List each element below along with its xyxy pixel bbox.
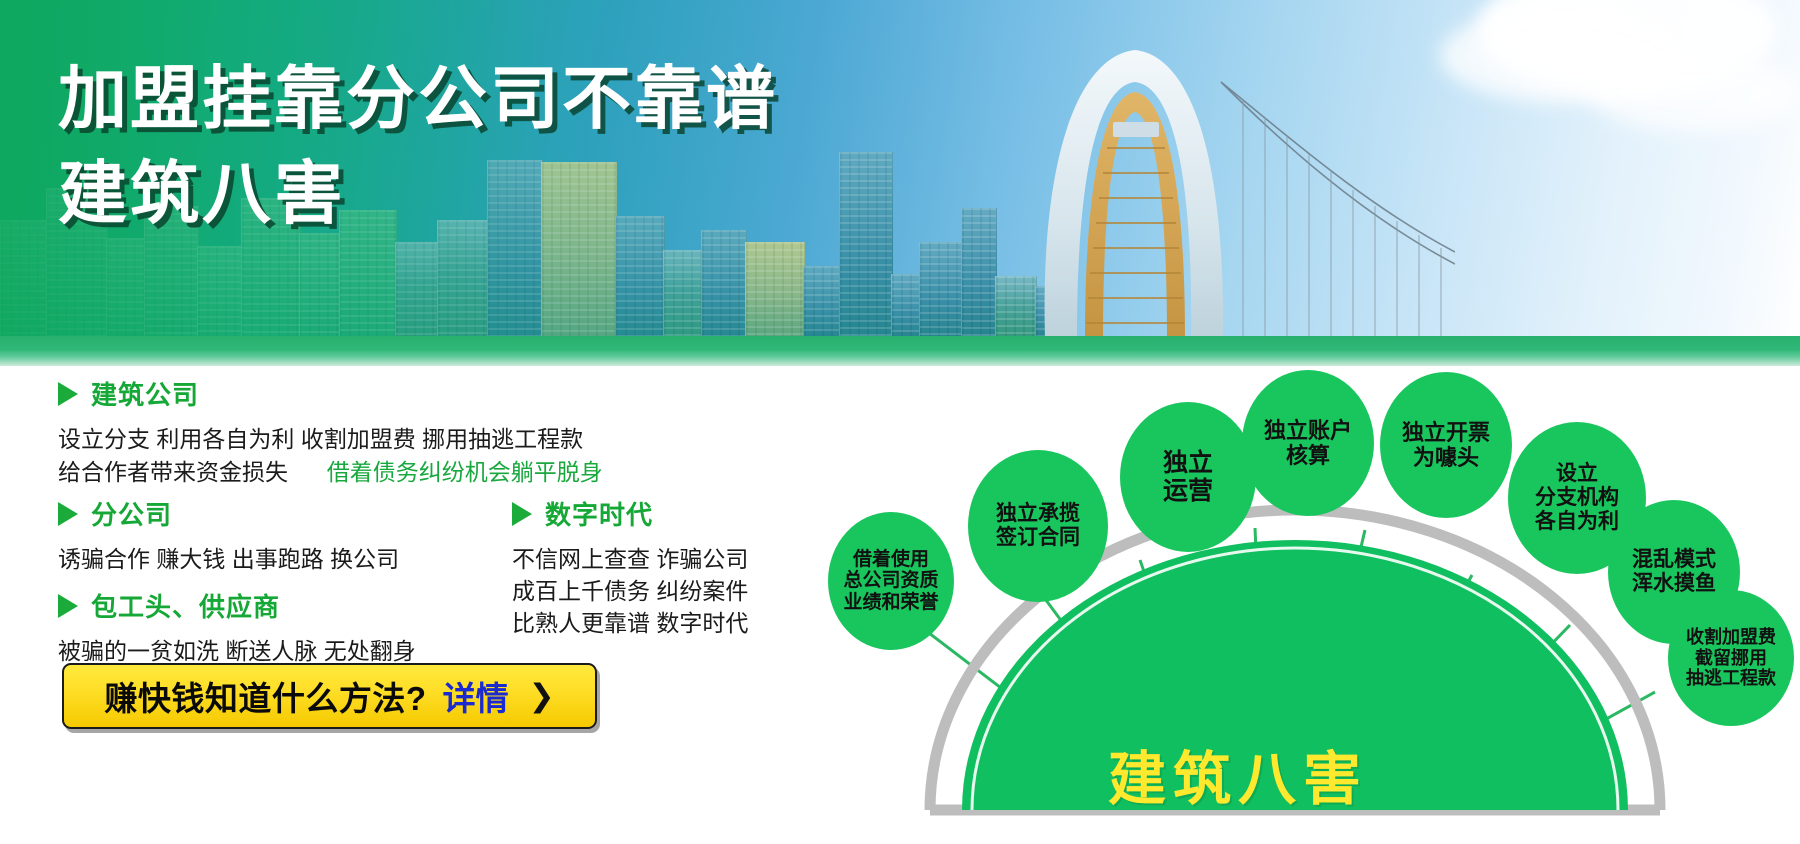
section-body-line: 成百上千债务 纠纷案件: [512, 575, 748, 607]
bubble-text: 独立账户核算: [1260, 418, 1356, 468]
bubble-text: 独立开票为噱头: [1398, 420, 1494, 470]
section-body-line: 给合作者带来资金损失 借着债务纠纷机会躺平脱身: [58, 456, 603, 489]
chevron-right-icon: ❯: [529, 678, 555, 714]
triangle-bullet-icon: [58, 594, 78, 618]
headline-secondary: 建筑八害: [58, 157, 778, 232]
bubble-independent-account[interactable]: 独立账户核算: [1242, 370, 1374, 516]
headline-primary: 加盟挂靠分公司不靠谱: [58, 62, 778, 137]
bubble-text: 收割加盟费截留挪用抽逃工程款: [1682, 627, 1780, 689]
triangle-bullet-icon: [58, 502, 78, 526]
section-branch-company: 分公司 诱骗合作 赚大钱 出事跑路 换公司: [58, 495, 399, 576]
triangle-bullet-icon: [58, 382, 78, 406]
section-contractor-supplier: 包工头、供应商 被骗的一贫如洗 断送人脉 无处翻身: [58, 587, 416, 668]
bubble-harvest-franchise-fees[interactable]: 收割加盟费截留挪用抽逃工程款: [1668, 590, 1794, 726]
section-title: 包工头、供应商: [91, 587, 280, 624]
section-body: 不信网上查查 诈骗公司 成百上千债务 纠纷案件 比熟人更靠谱 数字时代: [512, 543, 748, 640]
left-content-column: 建筑公司 设立分支 利用各自为利 收割加盟费 挪用抽逃工程款 给合作者带来资金损…: [0, 375, 790, 844]
cta-label: 赚快钱知道什么方法?: [104, 672, 426, 720]
bubble-text: 混乱模式浑水摸鱼: [1628, 548, 1720, 596]
hero-banner: 加盟挂靠分公司不靠谱 建筑八害: [0, 0, 1800, 366]
section-body-line: 诱骗合作 赚大钱 出事跑路 换公司: [58, 543, 399, 576]
poster-root: 加盟挂靠分公司不靠谱 建筑八害 建筑公司 设立分支 利用各自为利 收割加盟费 挪…: [0, 0, 1800, 844]
headline-group: 加盟挂靠分公司不靠谱 建筑八害: [58, 62, 778, 231]
bubble-text: 设立分支机构各自为利: [1531, 462, 1623, 534]
section-title: 分公司: [91, 495, 172, 532]
section-body-line: 比熟人更靠谱 数字时代: [512, 607, 748, 639]
section-title: 数字时代: [545, 495, 653, 532]
bubble-text: 借着使用总公司资质业绩和荣誉: [839, 549, 942, 614]
section-body-highlight: 借着债务纠纷机会躺平脱身: [327, 459, 603, 485]
section-body-plain: 给合作者带来资金损失: [58, 459, 288, 485]
bubble-text: 独立运营: [1159, 449, 1217, 506]
section-body: 设立分支 利用各自为利 收割加盟费 挪用抽逃工程款 给合作者带来资金损失 借着债…: [58, 423, 603, 488]
bridge-illustration: [985, 38, 1455, 338]
section-body-line: 设立分支 利用各自为利 收割加盟费 挪用抽逃工程款: [58, 423, 603, 456]
section-construction-company: 建筑公司 设立分支 利用各自为利 收割加盟费 挪用抽逃工程款 给合作者带来资金损…: [58, 375, 603, 488]
triangle-bullet-icon: [512, 502, 532, 526]
bubble-independent-operation[interactable]: 独立运营: [1120, 402, 1256, 552]
bubble-independent-invoicing[interactable]: 独立开票为噱头: [1380, 372, 1512, 518]
section-body: 诱骗合作 赚大钱 出事跑路 换公司: [58, 543, 399, 576]
section-heading: 包工头、供应商: [58, 587, 416, 624]
cta-button[interactable]: 赚快钱知道什么方法? 详情 ❯: [62, 663, 597, 729]
section-body-line: 不信网上查查 诈骗公司: [512, 543, 748, 575]
section-heading: 建筑公司: [58, 375, 603, 412]
cta-detail-link[interactable]: 详情: [443, 672, 509, 720]
section-title: 建筑公司: [91, 375, 199, 412]
bubble-text: 独立承揽签订合同: [992, 502, 1084, 550]
section-digital-era: 数字时代 不信网上查查 诈骗公司 成百上千债务 纠纷案件 比熟人更靠谱 数字时代: [512, 495, 748, 640]
bubble-independent-contracting[interactable]: 独立承揽签订合同: [968, 450, 1108, 602]
eight-harms-diagram: 借着使用总公司资质业绩和荣誉 独立承揽签订合同 独立运营 独立账户核算 独立开票…: [790, 340, 1800, 844]
section-heading: 数字时代: [512, 495, 748, 532]
section-heading: 分公司: [58, 495, 399, 532]
bubble-use-parent-qualifications[interactable]: 借着使用总公司资质业绩和荣誉: [828, 512, 954, 650]
dome-center-label: 建筑八害: [1108, 732, 1368, 816]
